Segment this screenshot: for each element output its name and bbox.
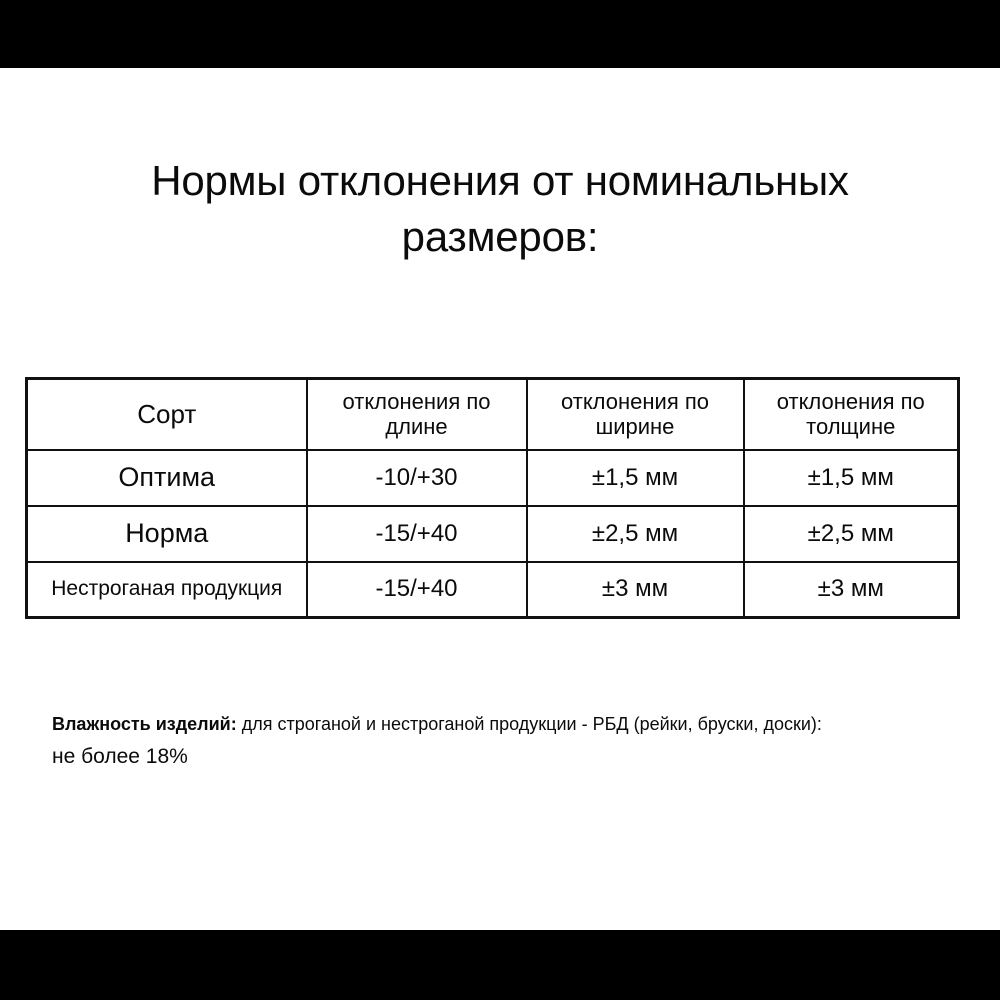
table-row: Оптима -10/+30 ±1,5 мм ±1,5 мм (27, 450, 959, 506)
cell-thickness-deviation: ±1,5 мм (744, 450, 959, 506)
deviation-norms-table: Сорт отклонения по длине отклонения по ш… (25, 377, 960, 619)
cell-width-deviation: ±2,5 мм (527, 506, 744, 562)
footnote-line-2: не более 18% (52, 741, 942, 773)
slide-letterbox: Нормы отклонения от номинальных размеров… (0, 0, 1000, 1000)
cell-length-deviation: -15/+40 (307, 562, 527, 618)
footnote-label: Влажность изделий: (52, 714, 237, 734)
cell-length-deviation: -15/+40 (307, 506, 527, 562)
cell-length-deviation: -10/+30 (307, 450, 527, 506)
slide-content-area: Нормы отклонения от номинальных размеров… (0, 68, 1000, 930)
table-body: Оптима -10/+30 ±1,5 мм ±1,5 мм Норма -15… (27, 450, 959, 618)
footnote-text: для строганой и нестроганой продукции - … (237, 714, 822, 734)
cell-width-deviation: ±3 мм (527, 562, 744, 618)
cell-width-deviation: ±1,5 мм (527, 450, 744, 506)
table-row: Норма -15/+40 ±2,5 мм ±2,5 мм (27, 506, 959, 562)
column-header-thickness-deviation: отклонения по толщине (744, 379, 959, 450)
table-header-row: Сорт отклонения по длине отклонения по ш… (27, 379, 959, 450)
cell-thickness-deviation: ±2,5 мм (744, 506, 959, 562)
page-title: Нормы отклонения от номинальных размеров… (60, 153, 940, 265)
column-header-grade: Сорт (27, 379, 307, 450)
table-row: Нестроганая продукция -15/+40 ±3 мм ±3 м… (27, 562, 959, 618)
column-header-length-deviation: отклонения по длине (307, 379, 527, 450)
cell-thickness-deviation: ±3 мм (744, 562, 959, 618)
column-header-width-deviation: отклонения по ширине (527, 379, 744, 450)
table-header: Сорт отклонения по длине отклонения по ш… (27, 379, 959, 450)
cell-grade: Нестроганая продукция (27, 562, 307, 618)
footnote: Влажность изделий: для строганой и нестр… (52, 711, 942, 772)
footnote-line-1: Влажность изделий: для строганой и нестр… (52, 711, 942, 739)
cell-grade: Норма (27, 506, 307, 562)
cell-grade: Оптима (27, 450, 307, 506)
